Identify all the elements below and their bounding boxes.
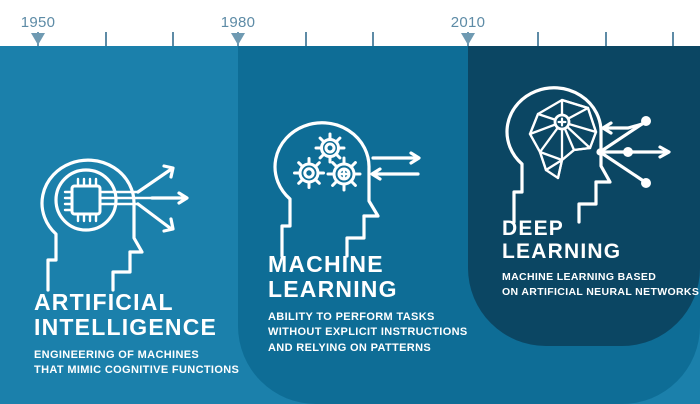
infographic-canvas: 195019802010 [0, 0, 700, 404]
title-deep-learning: Deep Learning [502, 218, 699, 263]
timeline-tick [305, 32, 307, 46]
title-machine-learning: Machine Learning [268, 252, 468, 302]
head-chip-icon [34, 148, 204, 298]
timeline-tick [372, 32, 374, 46]
label-artificial-intelligence: Artificial Intelligence Engineering of m… [34, 290, 239, 379]
head-gears-icon [268, 112, 443, 264]
subtitle-machine-learning: Ability to perform tasks without explici… [268, 310, 468, 357]
marker-triangle-icon [231, 33, 245, 45]
timeline-axis: 195019802010 [0, 0, 700, 46]
marker-triangle-icon [31, 33, 45, 45]
timeline-tick [172, 32, 174, 46]
timeline-tick [105, 32, 107, 46]
timeline-year-label-1980: 1980 [221, 14, 256, 31]
marker-triangle-icon [461, 33, 475, 45]
subtitle-artificial-intelligence: Engineering of machines that mimic cogni… [34, 348, 239, 379]
timeline-year-label-2010: 2010 [451, 14, 486, 31]
timeline-tick [537, 32, 539, 46]
timeline-tick [672, 32, 674, 46]
subtitle-deep-learning: Machine learning based on artificial neu… [502, 270, 699, 300]
title-artificial-intelligence: Artificial Intelligence [34, 290, 239, 340]
label-machine-learning: Machine Learning Ability to perform task… [268, 252, 468, 356]
timeline-year-label-1950: 1950 [21, 14, 56, 31]
head-neural-network-icon [500, 76, 680, 228]
timeline-tick [605, 32, 607, 46]
label-deep-learning: Deep Learning Machine learning based on … [502, 218, 699, 300]
